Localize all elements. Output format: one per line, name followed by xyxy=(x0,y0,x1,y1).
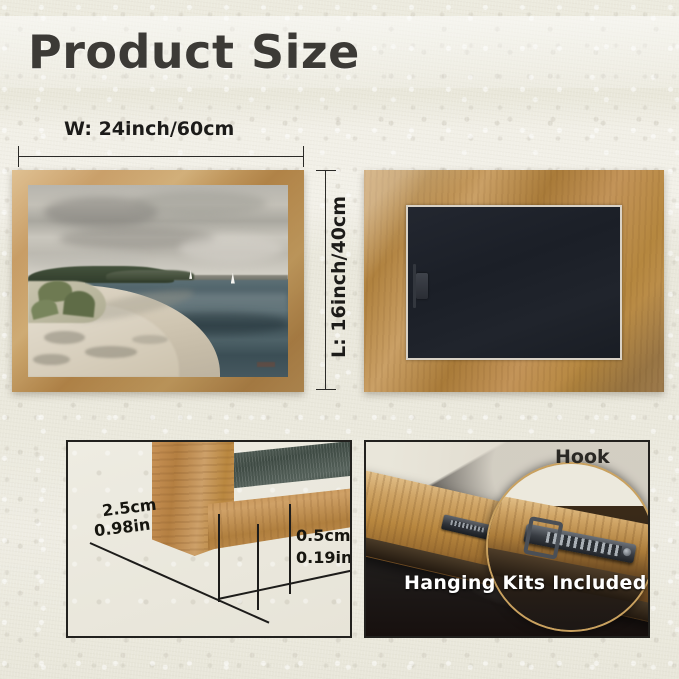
backing-board xyxy=(408,207,620,358)
frame-depth-inch-label: 0.19in xyxy=(296,548,352,567)
width-tick-right xyxy=(303,146,304,167)
width-dimension-label: W: 24inch/60cm xyxy=(64,118,234,140)
framed-artwork-front xyxy=(12,170,304,392)
measure-line-base xyxy=(218,565,352,600)
length-dimension-line xyxy=(325,170,326,390)
beach-rock xyxy=(85,346,137,358)
product-size-infographic: Product Size W: 24inch/60cm L: 16inch/40… xyxy=(0,0,679,679)
width-dimension-line xyxy=(18,156,304,157)
frame-depth-cm-label: 0.5cm xyxy=(296,526,351,545)
thickness-detail-panel: 2.5cm 0.98in 0.5cm 0.19in xyxy=(66,440,352,638)
page-title: Product Size xyxy=(28,22,360,82)
hook-loop xyxy=(523,516,564,560)
measure-line-diagonal xyxy=(90,542,270,624)
hook-label: Hook xyxy=(555,446,610,468)
artwork-well xyxy=(28,185,288,377)
treeline-secondary xyxy=(106,270,194,280)
length-tick-top xyxy=(316,170,336,171)
length-dimension-label: L: 16inch/40cm xyxy=(328,196,350,358)
canvas-edge xyxy=(216,440,352,490)
measure-tick-1 xyxy=(218,514,220,602)
hanging-kits-included-label: Hanging Kits Included xyxy=(404,572,647,594)
magnifier-circle xyxy=(486,462,650,632)
measure-tick-3 xyxy=(289,504,291,594)
frame-width-inch-label: 0.98in xyxy=(93,515,151,541)
cloud xyxy=(179,235,283,262)
backing-mat xyxy=(406,205,622,360)
cloud xyxy=(132,191,267,216)
length-tick-bottom xyxy=(316,389,336,390)
measure-tick-2 xyxy=(257,524,259,610)
framed-artwork-back xyxy=(364,170,664,392)
coastal-painting xyxy=(28,185,288,377)
artist-signature xyxy=(257,362,275,367)
hanging-bracket-icon xyxy=(416,273,428,299)
width-tick-left xyxy=(18,146,19,167)
hanging-kit-panel xyxy=(364,440,650,638)
